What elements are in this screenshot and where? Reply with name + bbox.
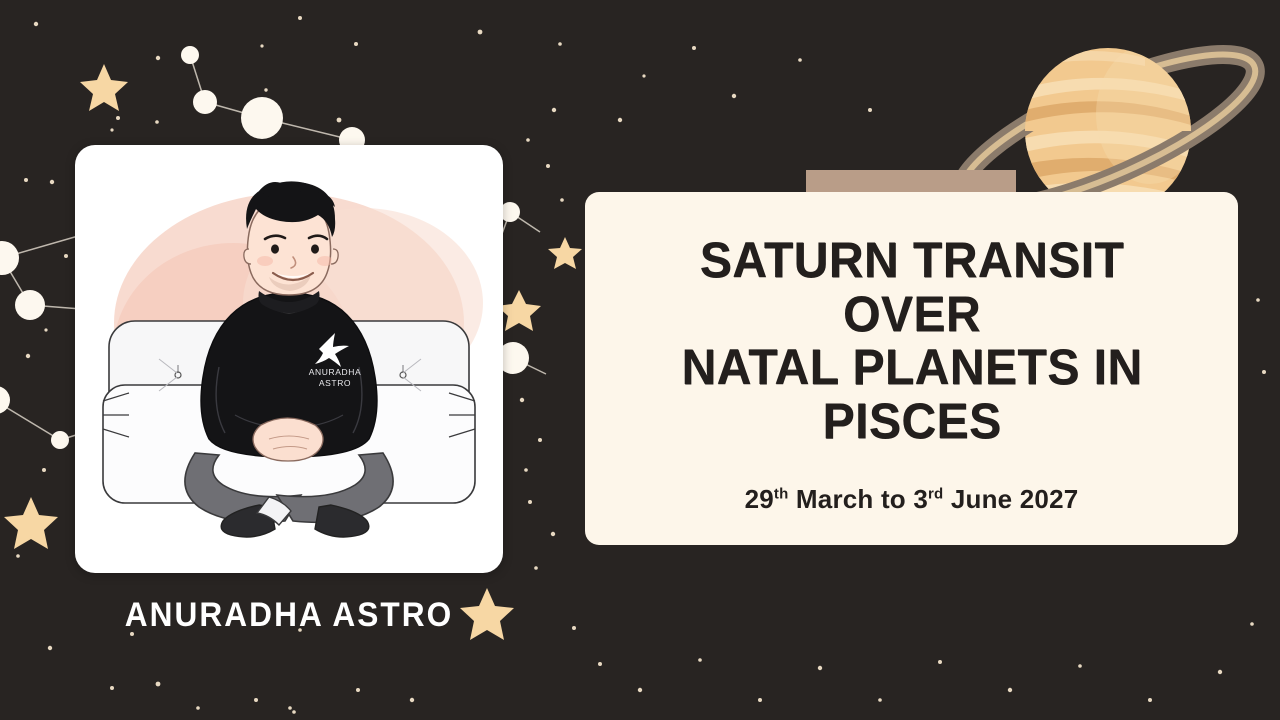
- title-card: SATURN TRANSIT OVER NATAL PLANETS IN PIS…: [585, 192, 1238, 545]
- start-suffix: th: [774, 485, 789, 502]
- channel-nameplate: ANURADHA ASTRO: [90, 596, 488, 635]
- start-month: March: [796, 484, 874, 514]
- poster-canvas: ANURADHA ASTRO ANURADHA ASTRO SATURN TRA…: [0, 0, 1280, 720]
- year: 2027: [1020, 484, 1079, 514]
- end-day: 3: [913, 484, 928, 514]
- start-day: 29: [745, 484, 774, 514]
- title-line-2: NATAL PLANETS IN: [643, 341, 1181, 395]
- svg-text:ANURADHA: ANURADHA: [309, 367, 362, 377]
- end-month: June: [951, 484, 1012, 514]
- end-suffix: rd: [928, 485, 943, 502]
- date-connector: to: [881, 484, 906, 514]
- page-title: SATURN TRANSIT OVER NATAL PLANETS IN PIS…: [643, 234, 1181, 448]
- title-line-1: SATURN TRANSIT OVER: [643, 234, 1181, 341]
- title-line-3: PISCES: [643, 395, 1181, 449]
- profile-photo-card: ANURADHA ASTRO: [75, 145, 503, 573]
- profile-photo: ANURADHA ASTRO: [83, 153, 495, 565]
- svg-text:ASTRO: ASTRO: [319, 378, 351, 388]
- date-range: 29th March to 3rd June 2027: [745, 484, 1079, 515]
